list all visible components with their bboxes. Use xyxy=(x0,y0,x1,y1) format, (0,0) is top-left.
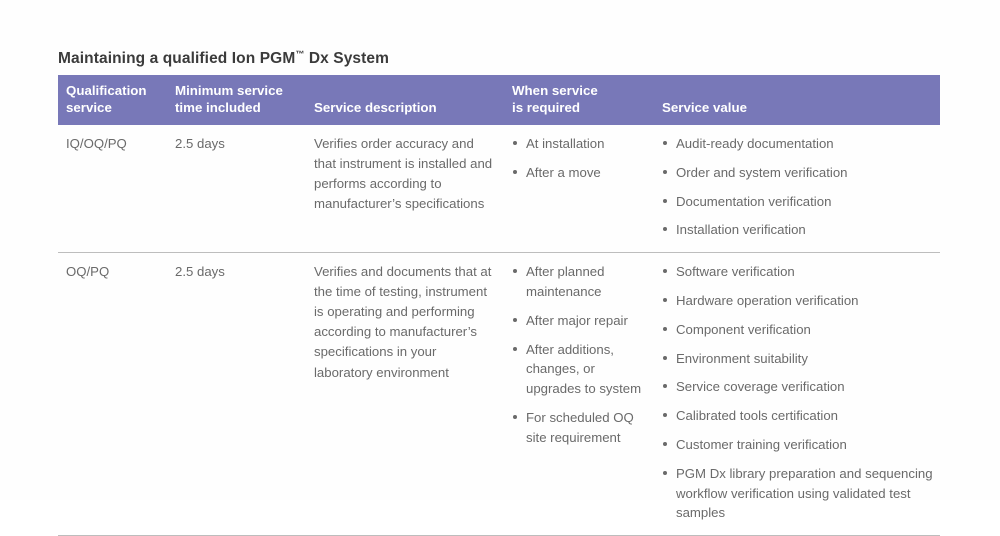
cell-service-description: Verifies and documents that at the time … xyxy=(314,253,512,536)
list-item: After planned maintenance xyxy=(512,262,646,302)
qualification-service-table: Qualification service Minimum service ti… xyxy=(58,75,940,536)
list-item: Documentation verification xyxy=(662,192,934,212)
list-item: Hardware operation verification xyxy=(662,291,934,311)
table-body: IQ/OQ/PQ 2.5 days Verifies order accurac… xyxy=(58,125,940,536)
column-header-line-2: Service value xyxy=(662,100,747,115)
page-title-suffix: Dx System xyxy=(304,50,389,67)
column-header-line-1: When service xyxy=(512,83,598,98)
column-header-service-description: Service description xyxy=(314,75,512,125)
list-item: After major repair xyxy=(512,311,646,331)
column-header-line-2: service xyxy=(66,100,112,115)
column-header-service-value: Service value xyxy=(662,75,940,125)
column-header-line-2: is required xyxy=(512,100,580,115)
page-title: Maintaining a qualified Ion PGM™ Dx Syst… xyxy=(58,50,389,68)
list-item: Component verification xyxy=(662,320,934,340)
document-page: Maintaining a qualified Ion PGM™ Dx Syst… xyxy=(0,0,1000,500)
when-service-required-list: After planned maintenance After major re… xyxy=(512,262,646,447)
list-item: PGM Dx library preparation and sequencin… xyxy=(662,464,934,523)
cell-qualification-service: IQ/OQ/PQ xyxy=(58,125,175,253)
list-item: Service coverage verification xyxy=(662,377,934,397)
list-item: Environment suitability xyxy=(662,349,934,369)
column-header-qualification-service: Qualification service xyxy=(58,75,175,125)
column-header-line-2: Service description xyxy=(314,100,437,115)
service-description-text: Verifies order accuracy and that instrum… xyxy=(314,134,496,214)
cell-service-value: Audit-ready documentation Order and syst… xyxy=(662,125,940,253)
list-item: Software verification xyxy=(662,262,934,282)
cell-qualification-service: OQ/PQ xyxy=(58,253,175,536)
list-item: After additions, changes, or upgrades to… xyxy=(512,340,646,399)
cell-service-description: Verifies order accuracy and that instrum… xyxy=(314,125,512,253)
column-header-line-1: Qualification xyxy=(66,83,147,98)
table-header: Qualification service Minimum service ti… xyxy=(58,75,940,125)
when-service-required-list: At installation After a move xyxy=(512,134,646,183)
service-description-text: Verifies and documents that at the time … xyxy=(314,262,496,382)
cell-service-value: Software verification Hardware operation… xyxy=(662,253,940,536)
list-item: Audit-ready documentation xyxy=(662,134,934,154)
list-item: At installation xyxy=(512,134,646,154)
service-value-list: Audit-ready documentation Order and syst… xyxy=(662,134,934,240)
list-item: Installation verification xyxy=(662,220,934,240)
column-header-when-service-required: When service is required xyxy=(512,75,662,125)
cell-when-service-required: At installation After a move xyxy=(512,125,662,253)
list-item: Calibrated tools certification xyxy=(662,406,934,426)
service-value-list: Software verification Hardware operation… xyxy=(662,262,934,523)
list-item: After a move xyxy=(512,163,646,183)
column-header-line-1: Minimum service xyxy=(175,83,283,98)
column-header-line-2: time included xyxy=(175,100,261,115)
column-header-minimum-service-time: Minimum service time included xyxy=(175,75,314,125)
cell-when-service-required: After planned maintenance After major re… xyxy=(512,253,662,536)
table-row: OQ/PQ 2.5 days Verifies and documents th… xyxy=(58,253,940,536)
cell-minimum-service-time: 2.5 days xyxy=(175,125,314,253)
cell-minimum-service-time: 2.5 days xyxy=(175,253,314,536)
list-item: For scheduled OQ site requirement xyxy=(512,408,646,448)
list-item: Customer training verification xyxy=(662,435,934,455)
page-title-prefix: Maintaining a qualified Ion PGM xyxy=(58,50,295,67)
list-item: Order and system verification xyxy=(662,163,934,183)
table-row: IQ/OQ/PQ 2.5 days Verifies order accurac… xyxy=(58,125,940,253)
table-header-row: Qualification service Minimum service ti… xyxy=(58,75,940,125)
